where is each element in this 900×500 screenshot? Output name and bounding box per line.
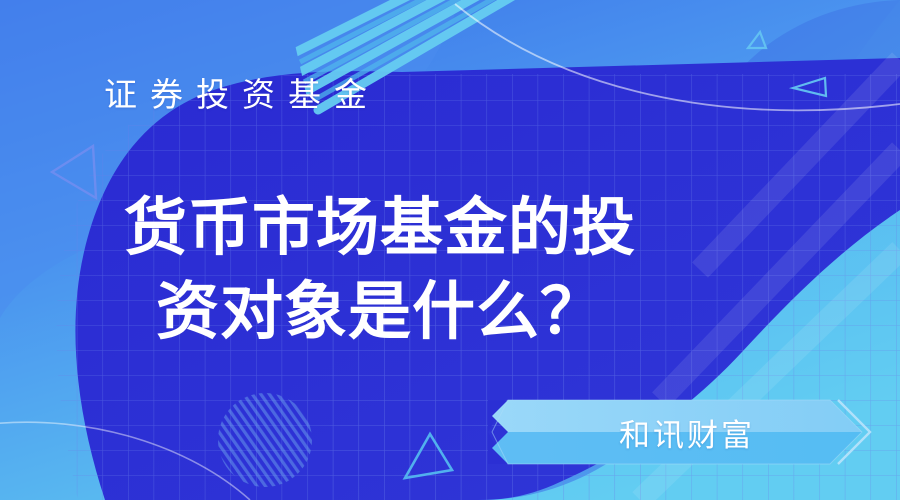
headline-line-2: 资对象是什么？ xyxy=(0,270,760,354)
headline-line-1: 货币市场基金的投 xyxy=(0,186,760,270)
poster-headline: 货币市场基金的投 资对象是什么？ xyxy=(0,186,760,354)
brand-banner-label: 和讯财富 xyxy=(488,398,860,466)
brand-banner[interactable]: 和讯财富 xyxy=(488,398,900,466)
poster-canvas: 证券投资基金 货币市场基金的投 资对象是什么？ xyxy=(0,0,900,500)
poster-kicker: 证券投资基金 xyxy=(104,78,380,111)
hatched-circle xyxy=(218,393,312,487)
